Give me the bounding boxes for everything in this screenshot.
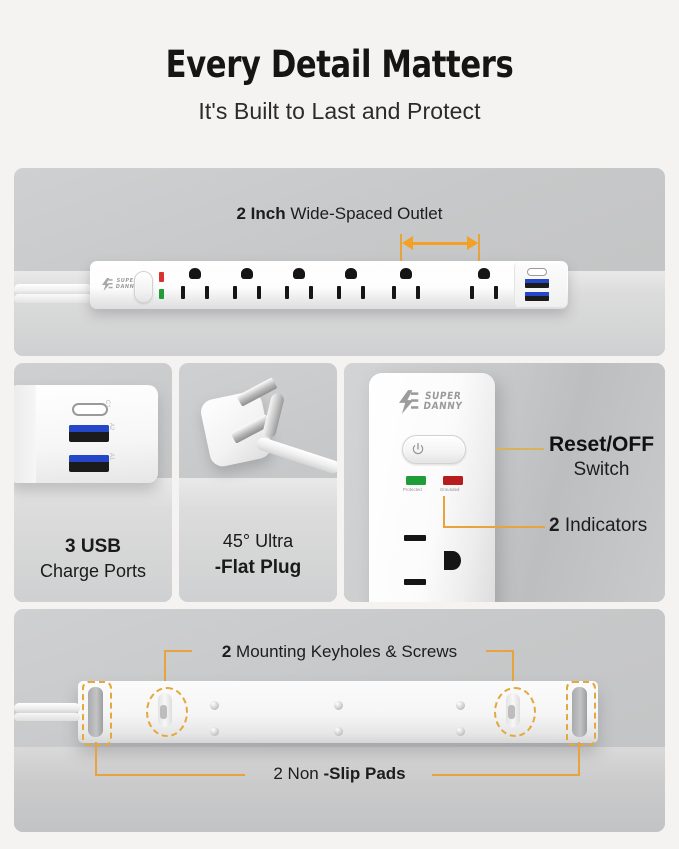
measure-line xyxy=(406,242,476,245)
caption-plug-subtitle: -Flat Plug xyxy=(179,556,337,579)
annotation-indicators-count: 2 xyxy=(549,515,560,536)
caption-usb-title: 3 USB xyxy=(14,535,172,558)
power-cord-shadow xyxy=(14,294,92,303)
usb-a-port[interactable] xyxy=(69,425,109,442)
annotation-pads-count: 2 Non xyxy=(273,764,323,783)
mounting-screw xyxy=(210,727,219,736)
outlet-ground-slot xyxy=(444,551,461,570)
annotation-reset-subtitle: Switch xyxy=(549,459,654,481)
power-switch[interactable] xyxy=(134,271,153,303)
panel-reset-switch: SUPER DANNY Protected Grounded Reset/OFF… xyxy=(344,363,665,602)
caption-usb-subtitle: Charge Ports xyxy=(14,561,172,583)
lightning-bolt-icon xyxy=(102,278,113,291)
leader-pads-right-v xyxy=(578,742,580,776)
indicator-led-green xyxy=(159,289,164,299)
header: Every Detail Matters It's Built to Last … xyxy=(0,0,679,125)
outlet-slot xyxy=(404,579,426,585)
leader-line-indicators-h xyxy=(443,526,545,528)
highlight-keyhole-right xyxy=(494,687,536,737)
panel-wide-spaced-outlet: 2 Inch Wide-Spaced Outlet SUPER DANNY xyxy=(14,168,665,356)
caption-plug: 45° Ultra -Flat Plug xyxy=(179,531,337,579)
usb-a-port[interactable] xyxy=(525,292,549,301)
indicator-label-grounded: Grounded xyxy=(440,487,459,492)
measure-arrow-left-icon xyxy=(402,236,413,250)
usb-a-port[interactable] xyxy=(525,279,549,288)
power-icon xyxy=(411,442,425,456)
highlight-pad-left xyxy=(82,681,112,746)
mounting-screw xyxy=(334,727,343,736)
usb-port-label-a1: A1 xyxy=(108,453,114,460)
indicator-led-red xyxy=(159,272,164,282)
mounting-screw xyxy=(456,701,465,710)
power-strip-body xyxy=(90,261,568,309)
page-title: Every Detail Matters xyxy=(27,46,652,85)
leader-pads-left-v xyxy=(95,742,97,776)
power-cord xyxy=(14,703,80,713)
annotation-pads-label: -Slip Pads xyxy=(323,764,405,783)
indicator-led-grounded xyxy=(443,476,463,485)
annotation-keyholes-label: Mounting Keyholes & Screws xyxy=(231,642,457,661)
annotation-wide-spaced: 2 Inch Wide-Spaced Outlet xyxy=(237,204,443,224)
plug-cable xyxy=(255,436,337,475)
annotation-wide-spaced-value: 2 Inch xyxy=(237,204,286,223)
panel-surface xyxy=(14,747,665,832)
page-subtitle: It's Built to Last and Protect xyxy=(0,98,679,125)
mounting-screw xyxy=(334,701,343,710)
brand-logo-text: SUPER DANNY xyxy=(423,392,465,412)
highlight-keyhole-left xyxy=(146,687,188,737)
panel-usb-ports: C1 A2 A1 3 USB Charge Ports xyxy=(14,363,172,602)
annotation-keyholes: 2 Mounting Keyholes & Screws xyxy=(222,642,457,662)
indicator-led-protected xyxy=(406,476,426,485)
annotation-indicators: 2 Indicators xyxy=(549,515,647,537)
annotation-wide-spaced-label: Wide-Spaced Outlet xyxy=(286,204,443,223)
annotation-non-slip-pads: 2 Non -Slip Pads xyxy=(273,764,405,784)
reset-switch[interactable] xyxy=(402,435,466,464)
usb-a-port[interactable] xyxy=(69,455,109,472)
usb-port-label-c1: C1 xyxy=(104,400,110,408)
annotation-reset-switch: Reset/OFF Switch xyxy=(549,433,654,481)
indicator-label-protected: Protected xyxy=(403,487,422,492)
highlight-pad-right xyxy=(566,681,596,746)
annotation-indicators-label: Indicators xyxy=(560,515,648,536)
leader-keyhole-right-h xyxy=(486,650,514,652)
leader-pads-h-right xyxy=(432,774,580,776)
caption-usb: 3 USB Charge Ports xyxy=(14,535,172,583)
usb-port-label-a2: A2 xyxy=(108,423,114,430)
lightning-bolt-icon xyxy=(399,390,419,414)
usb-c-port[interactable] xyxy=(527,268,547,276)
measure-arrow-right-icon xyxy=(467,236,478,250)
mounting-screw xyxy=(456,727,465,736)
leader-line-reset xyxy=(496,448,544,450)
mounting-screw xyxy=(210,701,219,710)
power-cord-shadow xyxy=(14,713,80,721)
usb-c-port[interactable] xyxy=(72,403,108,416)
annotation-reset-title: Reset/OFF xyxy=(549,433,654,457)
brand-logo: SUPER DANNY xyxy=(399,390,463,414)
panel-flat-plug: 45° Ultra -Flat Plug xyxy=(179,363,337,602)
caption-plug-title: 45° Ultra xyxy=(179,531,337,553)
outlet-slot xyxy=(404,535,426,541)
leader-pads-h-left xyxy=(95,774,245,776)
usb-closeup-edge xyxy=(14,385,36,483)
panel-mounting-and-pads: 2 Mounting Keyholes & Screws 2 Non -Slip… xyxy=(14,609,665,832)
leader-line-indicators-v xyxy=(443,496,445,528)
leader-keyhole-left-h xyxy=(164,650,192,652)
